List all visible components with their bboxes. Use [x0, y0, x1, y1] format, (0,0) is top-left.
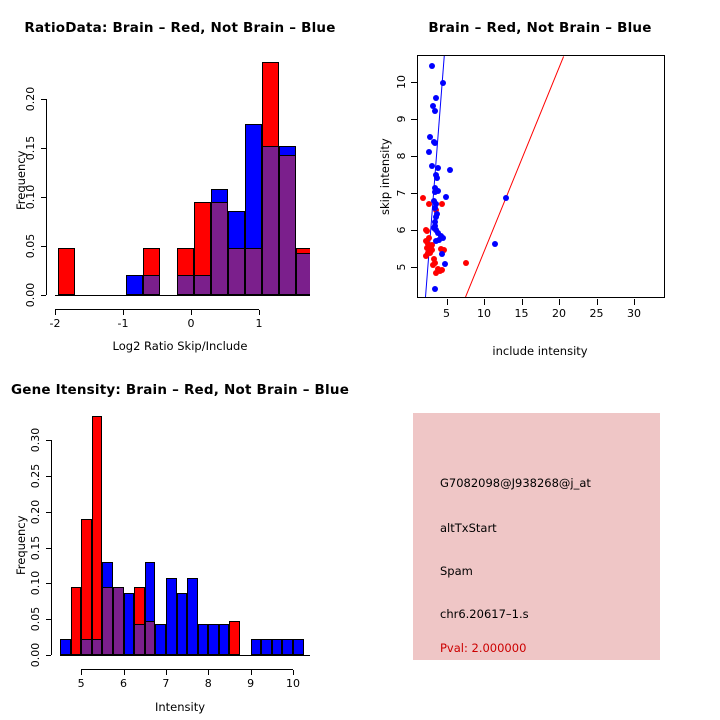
scatter-point — [433, 95, 439, 101]
y-axis-tick — [46, 512, 51, 513]
x-axis-tick-label: 5 — [443, 308, 450, 319]
x-axis-tick — [208, 670, 209, 675]
x-axis-tick-label: 30 — [627, 308, 641, 319]
histogram-bar-overlap — [228, 248, 245, 295]
x-axis-tick — [81, 670, 82, 675]
x-axis-tick-label: 20 — [552, 308, 566, 319]
histogram-bar — [272, 639, 283, 655]
gene-histogram-xlabel: Intensity — [60, 700, 300, 714]
scatter-point — [429, 63, 435, 69]
x-axis-tick-label: -2 — [50, 318, 61, 329]
y-axis-tick — [411, 82, 417, 83]
y-axis-tick-label: 9 — [396, 116, 407, 123]
y-axis-tick-label: 10 — [396, 75, 407, 89]
histogram-bar-overlap — [92, 639, 103, 655]
histogram-bar — [219, 624, 230, 655]
y-axis-tick — [46, 655, 51, 656]
info-box: G7082098@J938268@j_at altTxStart Spam ch… — [413, 413, 660, 660]
histogram-bar — [60, 639, 71, 655]
histogram-bar — [208, 624, 219, 655]
gene-histogram-ylabel: Frequency — [14, 516, 28, 575]
histogram-bar-overlap — [177, 275, 194, 295]
scatter-point — [426, 149, 432, 155]
histogram-bar — [81, 519, 92, 655]
x-axis-tick — [259, 310, 260, 315]
y-axis-line — [46, 99, 47, 295]
y-axis-tick-label: 0.10 — [25, 185, 36, 210]
x-axis-tick — [484, 299, 485, 305]
y-axis-tick — [411, 119, 417, 120]
histogram-bar — [261, 639, 272, 655]
y-axis-tick-label: 0.20 — [25, 87, 36, 112]
histogram-bar — [187, 578, 198, 655]
y-axis-tick-label: 5 — [396, 264, 407, 271]
y-axis-tick — [46, 583, 51, 584]
y-axis-tick — [41, 197, 46, 198]
histogram-bar-overlap — [245, 248, 262, 295]
y-axis-tick-label: 8 — [396, 153, 407, 160]
histogram-baseline — [60, 655, 310, 656]
info-probe-id: G7082098@J938268@j_at — [440, 476, 591, 490]
x-axis-tick — [559, 299, 560, 305]
x-axis-tick-label: 5 — [78, 678, 85, 689]
y-axis-tick — [46, 548, 51, 549]
regression-line-red-fit — [465, 56, 564, 297]
ratio-histogram-title: RatioData: Brain – Red, Not Brain – Blue — [0, 20, 360, 36]
panel-scatter: Brain – Red, Not Brain – Blue skip inten… — [360, 0, 720, 360]
histogram-bar-overlap — [194, 275, 211, 295]
scatter-point — [424, 228, 430, 234]
y-axis-tick — [411, 267, 417, 268]
histogram-bar — [155, 624, 166, 655]
scatter-point — [439, 267, 445, 273]
x-axis-tick — [522, 299, 523, 305]
scatter-point — [435, 188, 441, 194]
histogram-bar-overlap — [296, 253, 310, 295]
y-axis-tick — [46, 619, 51, 620]
scatter-point — [434, 175, 440, 181]
scatter-point — [503, 195, 509, 201]
y-axis-tick — [41, 246, 46, 247]
scatter-point — [439, 201, 445, 207]
histogram-bar-overlap — [143, 275, 160, 295]
histogram-bar-overlap — [211, 202, 228, 295]
scatter-plot — [418, 56, 664, 297]
histogram-bar-overlap — [279, 155, 296, 295]
scatter-point — [442, 261, 448, 267]
histogram-bar-overlap — [102, 587, 113, 655]
figure-canvas: RatioData: Brain – Red, Not Brain – Blue… — [0, 0, 720, 720]
y-axis-tick-label: 0.10 — [30, 571, 41, 596]
histogram-bar-overlap — [81, 639, 92, 655]
panel-gene-histogram: Gene Itensity: Brain – Red, Not Brain – … — [0, 360, 360, 720]
panel-info: G7082098@J938268@j_at altTxStart Spam ch… — [360, 360, 720, 720]
y-axis-tick-label: 7 — [396, 190, 407, 197]
ratio-histogram-plot — [55, 55, 310, 295]
x-axis-tick — [55, 310, 56, 315]
x-axis-tick-label: 0 — [188, 318, 195, 329]
histogram-bar-overlap — [262, 146, 279, 295]
y-axis-tick — [411, 193, 417, 194]
scatter-point — [440, 80, 446, 86]
scatter-point — [433, 238, 439, 244]
scatter-title: Brain – Red, Not Brain – Blue — [360, 20, 720, 36]
scatter-xlabel: include intensity — [415, 344, 665, 358]
x-axis-tick-label: 9 — [247, 678, 254, 689]
y-axis-tick — [41, 148, 46, 149]
scatter-point — [443, 194, 449, 200]
histogram-bar — [177, 593, 188, 655]
y-axis-tick — [46, 476, 51, 477]
histogram-bar-overlap — [145, 621, 156, 655]
scatter-point — [432, 108, 438, 114]
scatter-point — [420, 195, 426, 201]
gene-histogram-title: Gene Itensity: Brain – Red, Not Brain – … — [0, 382, 360, 398]
x-axis-tick-label: 6 — [120, 678, 127, 689]
histogram-bar — [198, 624, 209, 655]
y-axis-tick-label: 0.00 — [25, 283, 36, 308]
x-axis-tick — [447, 299, 448, 305]
scatter-point — [432, 286, 438, 292]
histogram-bar — [92, 416, 103, 655]
y-axis-tick-label: 0.00 — [30, 643, 41, 668]
histogram-bar — [126, 275, 143, 295]
y-axis-tick-label: 0.30 — [30, 428, 41, 453]
info-coordinate: chr6.20617–1.s — [440, 607, 529, 621]
ratio-histogram-xlabel: Log2 Ratio Skip/Include — [60, 339, 300, 353]
y-axis-tick-label: 6 — [396, 227, 407, 234]
y-axis-tick — [411, 156, 417, 157]
histogram-bar — [282, 639, 293, 655]
scatter-point — [447, 167, 453, 173]
panel-ratio-histogram: RatioData: Brain – Red, Not Brain – Blue… — [0, 0, 360, 360]
x-axis-tick — [123, 310, 124, 315]
x-axis-tick — [191, 310, 192, 315]
info-pvalue: Pval: 2.000000 — [440, 641, 526, 655]
x-axis-tick-label: 7 — [162, 678, 169, 689]
x-axis-tick — [293, 670, 294, 675]
x-axis-tick — [634, 299, 635, 305]
x-axis-tick-label: 10 — [477, 308, 491, 319]
scatter-point — [439, 251, 445, 257]
scatter-point — [492, 241, 498, 247]
histogram-bar — [251, 639, 262, 655]
x-axis-tick — [166, 670, 167, 675]
y-axis-tick-label: 0.20 — [30, 499, 41, 524]
y-axis-tick — [41, 99, 46, 100]
y-axis-tick-label: 0.05 — [30, 607, 41, 632]
histogram-bar-overlap — [113, 587, 124, 655]
histogram-bar-overlap — [134, 624, 145, 655]
x-axis-tick-label: -1 — [118, 318, 129, 329]
x-axis-tick — [597, 299, 598, 305]
x-axis-tick-label: 25 — [590, 308, 604, 319]
y-axis-tick-label: 0.25 — [30, 464, 41, 489]
y-axis-line — [51, 440, 52, 655]
y-axis-tick-label: 0.05 — [25, 234, 36, 259]
histogram-bar — [293, 639, 304, 655]
scatter-point — [435, 165, 441, 171]
gene-histogram-plot — [60, 415, 310, 655]
y-axis-tick — [411, 230, 417, 231]
scatter-point — [463, 260, 469, 266]
y-axis-tick — [41, 295, 46, 296]
histogram-bar — [229, 621, 240, 655]
y-axis-tick-label: 0.15 — [30, 535, 41, 560]
info-event-type: altTxStart — [440, 521, 497, 535]
histogram-bar — [71, 587, 82, 655]
x-axis-line — [81, 669, 293, 670]
y-axis-tick — [46, 440, 51, 441]
info-gene-name: Spam — [440, 564, 473, 578]
y-axis-tick-label: 0.15 — [25, 136, 36, 161]
histogram-bar — [166, 578, 177, 655]
x-axis-tick — [251, 670, 252, 675]
scatter-ylabel: skip intensity — [378, 138, 392, 215]
x-axis-tick-label: 8 — [205, 678, 212, 689]
x-axis-tick-label: 1 — [256, 318, 263, 329]
histogram-bar — [124, 593, 135, 655]
x-axis-tick-label: 15 — [515, 308, 529, 319]
histogram-baseline — [55, 295, 310, 296]
histogram-bar — [58, 248, 75, 295]
x-axis-tick-label: 10 — [286, 678, 300, 689]
x-axis-line — [55, 309, 259, 310]
x-axis-tick — [124, 670, 125, 675]
